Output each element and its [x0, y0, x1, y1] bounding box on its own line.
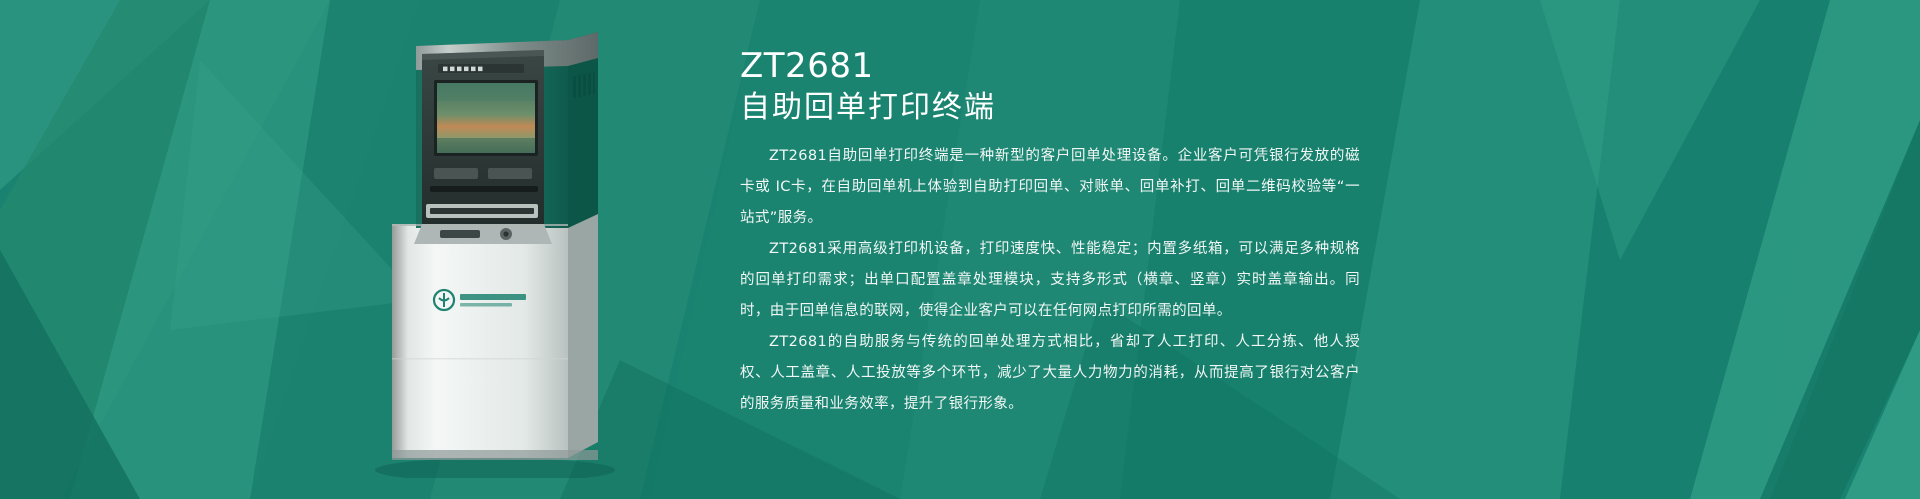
paragraph-3: ZT2681的自助服务与传统的回单处理方式相比，省却了人工打印、人工分拣、他人授… [740, 327, 1360, 420]
description-body: ZT2681自助回单打印终端是一种新型的客户回单处理设备。企业客户可凭银行发放的… [740, 141, 1360, 420]
paragraph-2: ZT2681采用高级打印机设备，打印速度快、性能稳定；内置多纸箱，可以满足多种规… [740, 234, 1360, 327]
page-subtitle: 自助回单打印终端 [740, 88, 1360, 127]
product-banner: ZT2681 自助回单打印终端 ZT2681自助回单打印终端是一种新型的客户回单… [0, 0, 1920, 499]
paragraph-1: ZT2681自助回单打印终端是一种新型的客户回单处理设备。企业客户可凭银行发放的… [740, 141, 1360, 234]
product-image [330, 18, 690, 478]
copy-block: ZT2681 自助回单打印终端 ZT2681自助回单打印终端是一种新型的客户回单… [740, 46, 1360, 420]
page-title: ZT2681 [740, 46, 1360, 86]
